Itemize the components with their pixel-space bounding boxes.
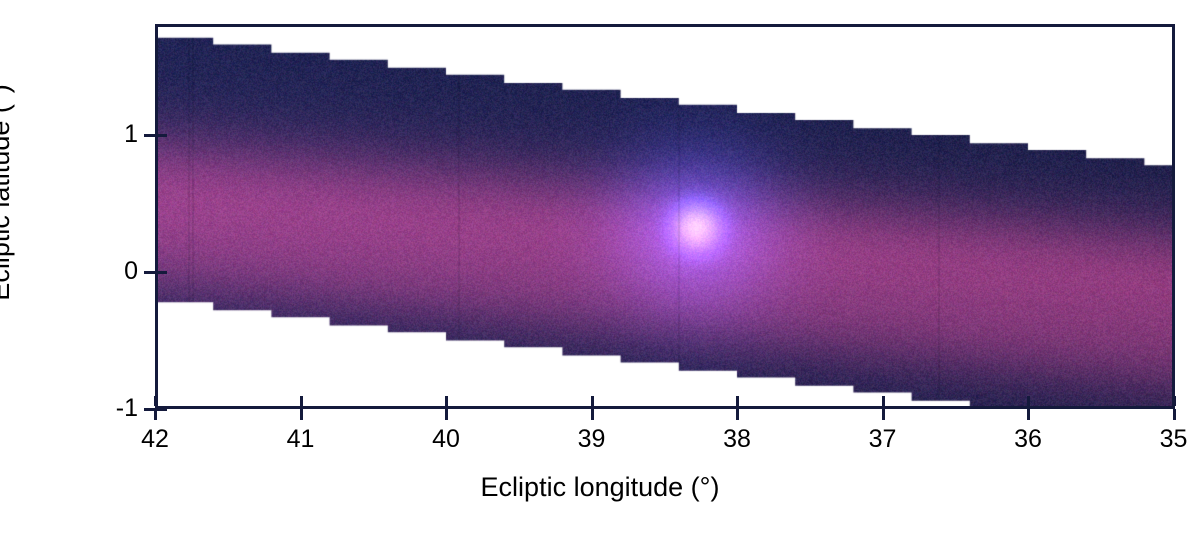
- plot-area: [155, 24, 1175, 409]
- y-tick-0: [144, 271, 155, 274]
- y-tick-1: [144, 134, 155, 137]
- x-tick-label-35: 35: [1134, 424, 1200, 454]
- y-tick-inner-0: [157, 271, 167, 274]
- x-tick-label-38: 38: [697, 424, 777, 454]
- x-tick-label-37: 37: [843, 424, 923, 454]
- y-tick-label-1: 1: [68, 120, 138, 148]
- x-tick-label-40: 40: [406, 424, 486, 454]
- y-axis-label: Ecliptic latitude (°): [0, 0, 20, 385]
- x-tick-37: [882, 409, 885, 420]
- x-tick-inner-41: [300, 396, 303, 406]
- x-tick-inner-42: [154, 396, 157, 406]
- figure-canvas: 4241403938373635 10-1 Ecliptic longitude…: [0, 0, 1200, 549]
- y-tick--1: [144, 408, 155, 411]
- y-tick-inner--1: [157, 408, 167, 411]
- x-tick-inner-38: [736, 396, 739, 406]
- x-tick-inner-35: [1173, 396, 1176, 406]
- x-tick-inner-40: [445, 396, 448, 406]
- x-tick-label-42: 42: [115, 424, 195, 454]
- x-tick-40: [445, 409, 448, 420]
- x-tick-38: [736, 409, 739, 420]
- x-tick-inner-36: [1027, 396, 1030, 406]
- y-tick-inner-1: [157, 134, 167, 137]
- y-tick-label--1: -1: [68, 394, 138, 422]
- y-tick-label-0: 0: [68, 257, 138, 285]
- x-tick-35: [1173, 409, 1176, 420]
- sky-image: [158, 27, 1172, 406]
- x-tick-36: [1027, 409, 1030, 420]
- x-tick-41: [300, 409, 303, 420]
- x-tick-inner-37: [882, 396, 885, 406]
- x-axis-label: Ecliptic longitude (°): [0, 472, 1200, 503]
- x-tick-label-41: 41: [261, 424, 341, 454]
- x-tick-39: [591, 409, 594, 420]
- x-tick-inner-39: [591, 396, 594, 406]
- x-tick-label-36: 36: [988, 424, 1068, 454]
- x-tick-label-39: 39: [552, 424, 632, 454]
